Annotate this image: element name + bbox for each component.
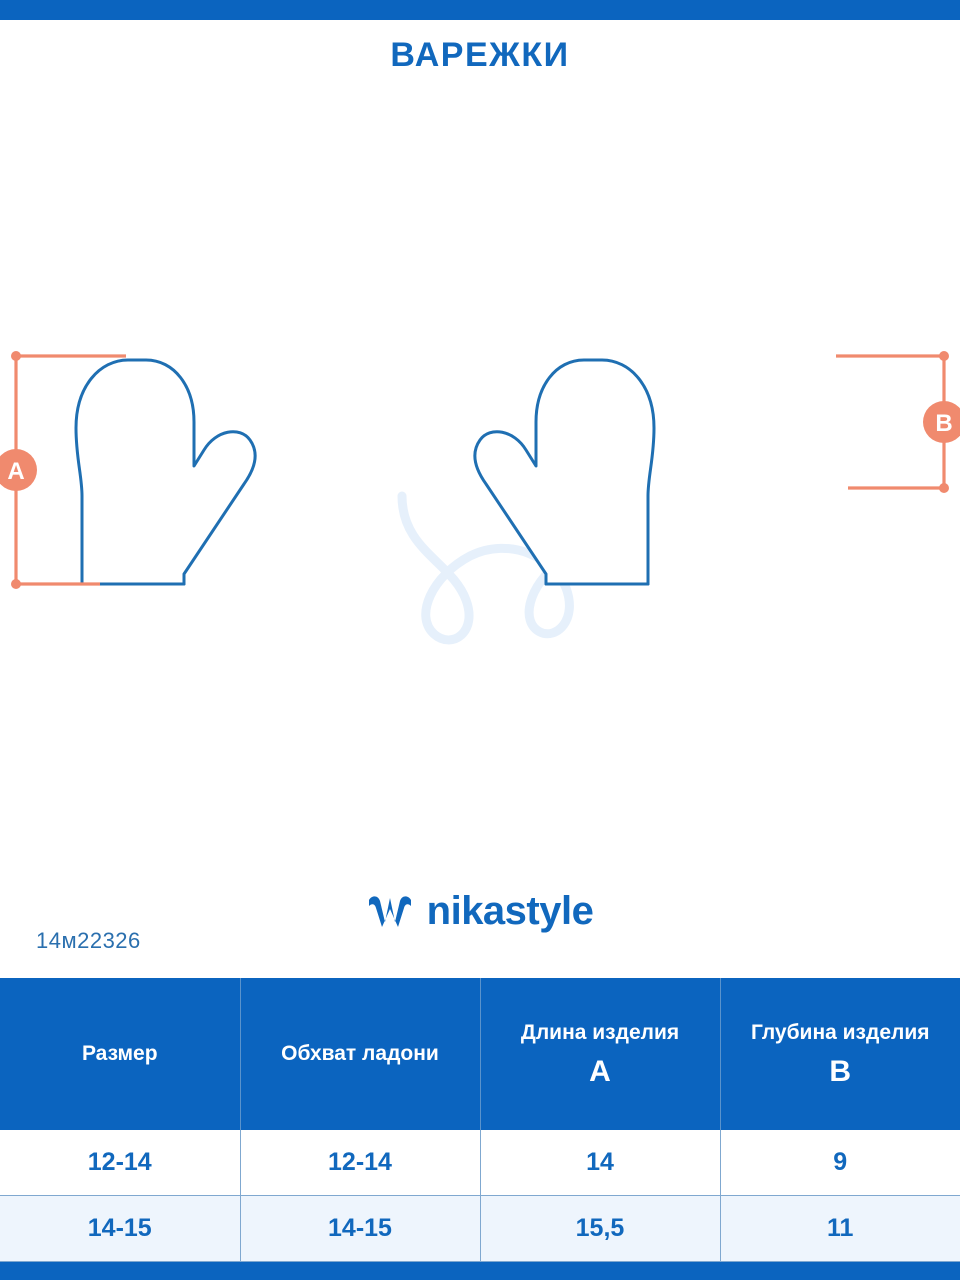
cell-palm: 12-14: [240, 1130, 480, 1196]
header-length-label: Длина изделия: [487, 1021, 714, 1045]
measure-b-dot-top: [939, 351, 949, 361]
measure-a-badge: A: [0, 449, 37, 491]
svg-text:B: B: [935, 410, 952, 437]
top-accent-bar: [0, 0, 960, 20]
header-palm-label: Обхват ладони: [247, 1042, 474, 1066]
cell-palm: 14-15: [240, 1196, 480, 1262]
cell-depth: 9: [720, 1130, 960, 1196]
cell-depth: 11: [720, 1196, 960, 1262]
header-size: Размер: [0, 978, 240, 1130]
size-chart-page: ВАРЕЖКИ: [0, 0, 960, 1280]
header-length: Длина изделия A: [480, 978, 720, 1130]
header-palm: Обхват ладони: [240, 978, 480, 1130]
cell-size: 14-15: [0, 1196, 240, 1262]
header-depth: Глубина изделия B: [720, 978, 960, 1130]
cell-size: 12-14: [0, 1130, 240, 1196]
measure-b-dot-bottom: [939, 483, 949, 493]
cell-length: 15,5: [480, 1196, 720, 1262]
header-length-letter: A: [487, 1057, 714, 1087]
bottom-accent-bar: [0, 1262, 960, 1280]
svg-text:A: A: [7, 458, 24, 485]
mitten-illustration: A B: [0, 300, 960, 660]
brand-name: nikastyle: [427, 891, 594, 931]
brand-logo: nikastyle: [0, 885, 960, 937]
header-size-label: Размер: [6, 1042, 234, 1066]
table-header-row: Размер Обхват ладони Длина изделия A Глу…: [0, 978, 960, 1130]
article-number: 14м22326: [36, 928, 141, 954]
wave-logo-icon: [367, 894, 413, 928]
table-row: 12-14 12-14 14 9: [0, 1130, 960, 1196]
measure-a-dot-top: [11, 351, 21, 361]
header-depth-label: Глубина изделия: [727, 1021, 955, 1045]
page-title: ВАРЕЖКИ: [0, 36, 960, 75]
cell-length: 14: [480, 1130, 720, 1196]
header-depth-letter: B: [727, 1057, 955, 1087]
table-row: 14-15 14-15 15,5 11: [0, 1196, 960, 1262]
left-mitten-icon: [76, 360, 255, 584]
measure-b-badge: B: [923, 401, 960, 443]
measure-a-dot-bottom: [11, 579, 21, 589]
size-table: Размер Обхват ладони Длина изделия A Глу…: [0, 978, 960, 1262]
